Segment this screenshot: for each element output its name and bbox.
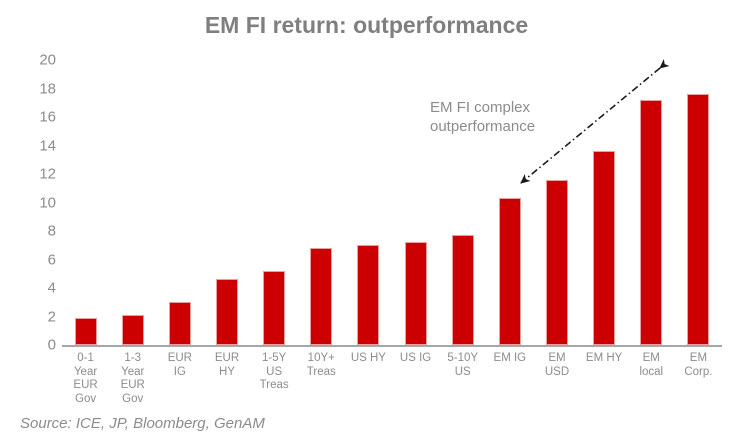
x-axis-tick: 1-3 Year EUR Gov (109, 352, 156, 406)
bar (75, 318, 97, 345)
y-axis-tick-labels: 20181614121086420 (18, 0, 56, 440)
x-axis-tick: EM IG (486, 352, 533, 366)
annotation-label: EM FI complex outperformance (430, 98, 580, 136)
bar (640, 100, 662, 345)
y-axis-tick: 6 (24, 252, 56, 267)
y-axis-tick: 8 (24, 224, 56, 239)
source-note: Source: ICE, JP, Bloomberg, GenAM (20, 415, 265, 432)
x-axis-tick: 5-10Y US (439, 352, 486, 379)
y-axis-tick: 2 (24, 309, 56, 324)
y-axis-tick: 10 (24, 195, 56, 210)
y-axis-tick: 14 (24, 138, 56, 153)
x-axis-line (62, 345, 722, 347)
chart-container: EM FI return: outperformance 20181614121… (0, 0, 733, 440)
x-axis-tick: 1-5Y US Treas (251, 352, 298, 393)
bar (546, 180, 568, 345)
y-axis-tick: 4 (24, 281, 56, 296)
x-axis-tick: EM HY (581, 352, 628, 366)
bar (687, 94, 709, 345)
x-axis-tick: US HY (345, 352, 392, 366)
y-axis-tick: 20 (24, 53, 56, 68)
x-axis-tick: EM USD (533, 352, 580, 379)
x-axis-tick: EM local (628, 352, 675, 379)
bar (499, 198, 521, 345)
y-axis-tick: 16 (24, 110, 56, 125)
y-axis-tick: 12 (24, 167, 56, 182)
bar (310, 248, 332, 345)
bar (263, 271, 285, 345)
bar-series (62, 55, 722, 345)
x-axis-tick: EUR IG (156, 352, 203, 379)
chart-title: EM FI return: outperformance (0, 12, 733, 39)
x-axis-tick: US IG (392, 352, 439, 366)
bar (357, 245, 379, 345)
x-axis-tick: EUR HY (203, 352, 250, 379)
x-axis-tick: EM Corp. (675, 352, 722, 379)
x-axis-tick: 10Y+ Treas (298, 352, 345, 379)
bar (169, 302, 191, 345)
bar (216, 279, 238, 345)
bar (452, 235, 474, 345)
x-axis-tick: 0-1 Year EUR Gov (62, 352, 109, 406)
bar (593, 151, 615, 345)
y-axis-tick: 0 (24, 338, 56, 353)
y-axis-tick: 18 (24, 81, 56, 96)
bar (405, 242, 427, 345)
bar (122, 315, 144, 345)
